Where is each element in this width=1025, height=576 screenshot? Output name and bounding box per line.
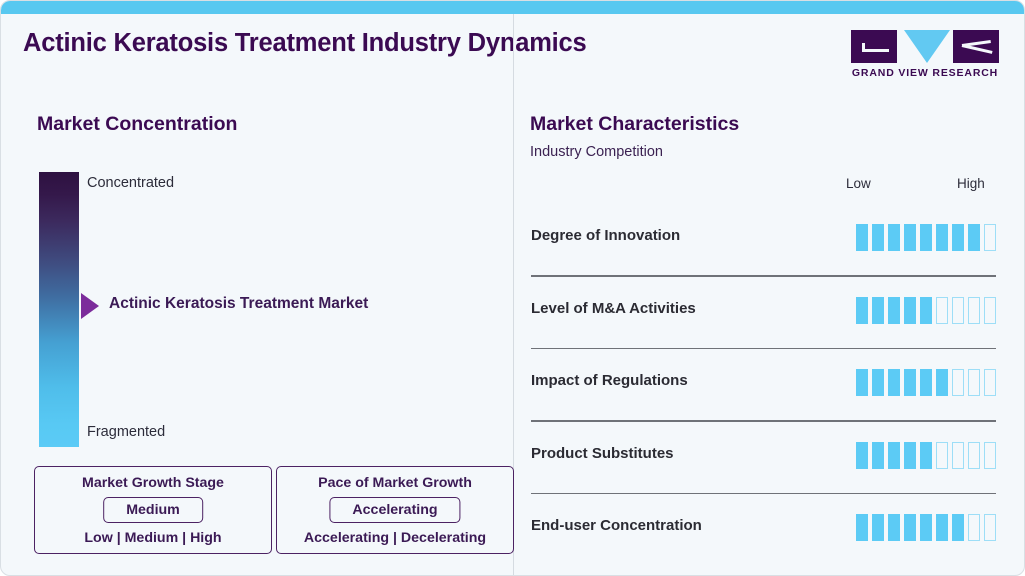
rating-tick-filled (904, 297, 916, 324)
rating-tick-filled (920, 514, 932, 541)
rating-tick-filled (872, 442, 884, 469)
g-letter-icon (851, 30, 897, 63)
rating-tick-filled (920, 224, 932, 251)
rating-tick-filled (904, 442, 916, 469)
pace-of-market-growth-box: Pace of Market Growth Accelerating Accel… (276, 466, 514, 554)
pace-of-market-growth-scale: Accelerating | Decelerating (277, 530, 513, 546)
rating-tick-filled (888, 297, 900, 324)
market-position-marker-icon (81, 293, 99, 319)
rating-tick-empty (936, 442, 948, 469)
rating-tick-filled (872, 297, 884, 324)
logo-marks (851, 30, 999, 63)
scale-high-label: High (957, 176, 985, 191)
rating-tick-empty (968, 514, 980, 541)
infographic-card: Actinic Keratosis Treatment Industry Dyn… (0, 0, 1025, 576)
rating-tick-filled (920, 297, 932, 324)
characteristic-rating-bars (856, 442, 996, 469)
scale-low-label: Low (846, 176, 871, 191)
market-growth-stage-value: Medium (103, 497, 203, 523)
rating-tick-filled (952, 514, 964, 541)
characteristic-row: End-user Concentration (514, 494, 1025, 567)
rating-tick-filled (904, 224, 916, 251)
v-triangle-icon (904, 30, 950, 63)
rating-tick-empty (936, 297, 948, 324)
rating-tick-empty (984, 442, 996, 469)
rating-tick-filled (872, 369, 884, 396)
rating-tick-filled (888, 442, 900, 469)
rating-tick-filled (888, 369, 900, 396)
rating-tick-filled (920, 369, 932, 396)
grand-view-research-logo: GRAND VIEW RESEARCH (851, 30, 999, 84)
rating-tick-filled (856, 514, 868, 541)
market-concentration-title: Market Concentration (37, 113, 237, 136)
characteristic-row: Level of M&A Activities (514, 277, 1025, 350)
logo-wordmark: GRAND VIEW RESEARCH (851, 67, 999, 79)
rating-tick-filled (856, 224, 868, 251)
rating-tick-filled (872, 224, 884, 251)
page-title: Actinic Keratosis Treatment Industry Dyn… (23, 29, 587, 58)
concentrated-label: Concentrated (87, 175, 174, 191)
characteristics-rows: Degree of InnovationLevel of M&A Activit… (514, 204, 1025, 567)
rating-tick-filled (888, 514, 900, 541)
rating-tick-empty (984, 514, 996, 541)
r-letter-icon (953, 30, 999, 63)
pace-of-market-growth-value: Accelerating (329, 497, 460, 523)
characteristic-label: Impact of Regulations (531, 372, 688, 389)
rating-tick-empty (968, 297, 980, 324)
rating-tick-filled (856, 369, 868, 396)
market-growth-stage-title: Market Growth Stage (35, 475, 271, 491)
characteristic-label: Degree of Innovation (531, 227, 680, 244)
concentration-gradient-bar (39, 172, 79, 447)
characteristic-rating-bars (856, 224, 996, 251)
rating-tick-filled (936, 514, 948, 541)
rating-tick-empty (952, 297, 964, 324)
rating-tick-empty (968, 442, 980, 469)
rating-tick-empty (968, 369, 980, 396)
rating-tick-filled (904, 369, 916, 396)
characteristic-rating-bars (856, 297, 996, 324)
rating-tick-filled (888, 224, 900, 251)
rating-tick-filled (968, 224, 980, 251)
characteristic-rating-bars (856, 369, 996, 396)
market-characteristics-subtitle: Industry Competition (530, 144, 663, 160)
fragmented-label: Fragmented (87, 424, 165, 440)
pace-of-market-growth-title: Pace of Market Growth (277, 475, 513, 491)
market-growth-stage-scale: Low | Medium | High (35, 530, 271, 546)
rating-tick-empty (952, 442, 964, 469)
market-characteristics-title: Market Characteristics (530, 113, 739, 136)
rating-tick-empty (984, 224, 996, 251)
characteristic-label: Level of M&A Activities (531, 300, 696, 317)
characteristic-label: Product Substitutes (531, 445, 674, 462)
characteristic-label: End-user Concentration (531, 517, 702, 534)
rating-tick-filled (920, 442, 932, 469)
market-characteristics-panel: Market Characteristics Industry Competit… (514, 86, 1025, 576)
characteristic-row: Product Substitutes (514, 422, 1025, 495)
rating-tick-empty (952, 369, 964, 396)
market-concentration-panel: Market Concentration Concentrated Fragme… (1, 86, 513, 576)
rating-tick-filled (856, 297, 868, 324)
rating-tick-empty (984, 369, 996, 396)
rating-tick-filled (856, 442, 868, 469)
characteristic-row: Impact of Regulations (514, 349, 1025, 422)
rating-tick-empty (984, 297, 996, 324)
characteristic-rating-bars (856, 514, 996, 541)
market-growth-stage-box: Market Growth Stage Medium Low | Medium … (34, 466, 272, 554)
rating-tick-filled (936, 369, 948, 396)
top-accent-strip (1, 1, 1025, 14)
market-position-label: Actinic Keratosis Treatment Market (109, 295, 368, 313)
rating-tick-filled (904, 514, 916, 541)
rating-tick-filled (872, 514, 884, 541)
characteristic-row: Degree of Innovation (514, 204, 1025, 277)
rating-tick-filled (936, 224, 948, 251)
rating-tick-filled (952, 224, 964, 251)
